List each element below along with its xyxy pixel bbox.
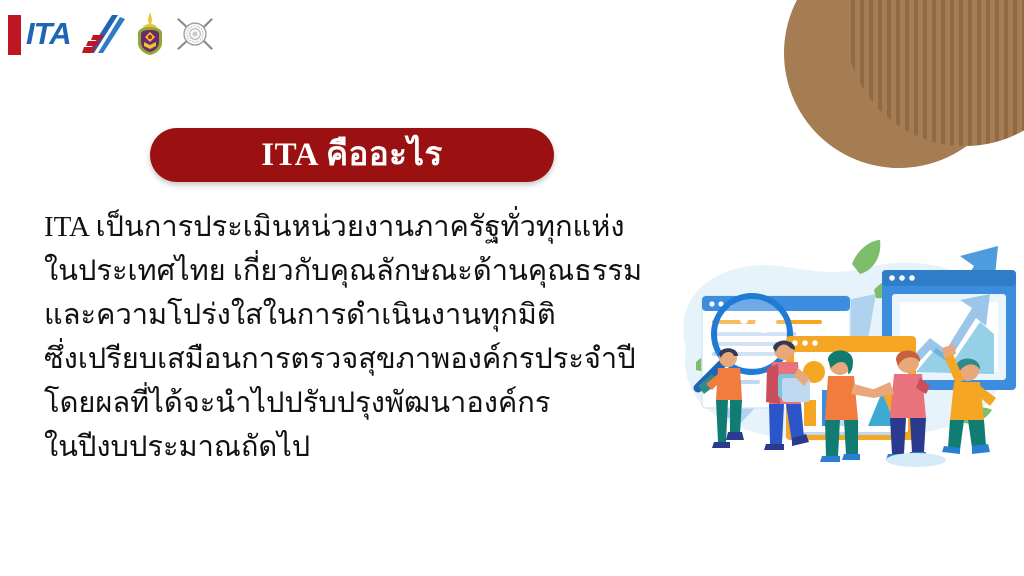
government-emblem-icon [132, 11, 168, 57]
page-title: ITA คืออะไร [261, 139, 442, 172]
ita-logo: ITA [8, 12, 126, 56]
ita-wordmark: ITA [26, 14, 71, 54]
title-banner: ITA คืออะไร [150, 128, 554, 182]
decorative-circles [764, 0, 1024, 215]
business-analytics-teamwork-illustration [668, 228, 1020, 468]
brown-solid-circle [784, 0, 1014, 168]
body-line-6: ในปีงบประมาณถัดไป [44, 425, 684, 469]
body-line-4: ซึ่งเปรียบเสมือนการตรวจสุขภาพองค์กรประจำ… [44, 337, 684, 381]
ita-red-bar [8, 15, 21, 55]
body-line-5: โดยผลที่ได้จะนำไปปรับปรุงพัฒนาองค์กร [44, 381, 684, 425]
logo-row: ITA [8, 8, 216, 60]
body-line-3: และความโปร่งใสในการดำเนินงานทุกมิติ [44, 293, 684, 337]
ground-shadow [886, 453, 946, 467]
body-paragraph: ITA เป็นการประเมินหน่วยงานภาครัฐทั่วทุกแ… [44, 205, 684, 469]
brown-striped-circle [846, 0, 1024, 146]
ita-swoosh-icon [82, 13, 126, 55]
body-line-1: ITA เป็นการประเมินหน่วยงานภาครัฐทั่วทุกแ… [44, 205, 684, 249]
slide-canvas: ITA [0, 0, 1024, 576]
body-line-2: ในประเทศไทย เกี่ยวกับคุณลักษณะด้านคุณธรร… [44, 249, 684, 293]
official-seal-icon [174, 13, 216, 55]
